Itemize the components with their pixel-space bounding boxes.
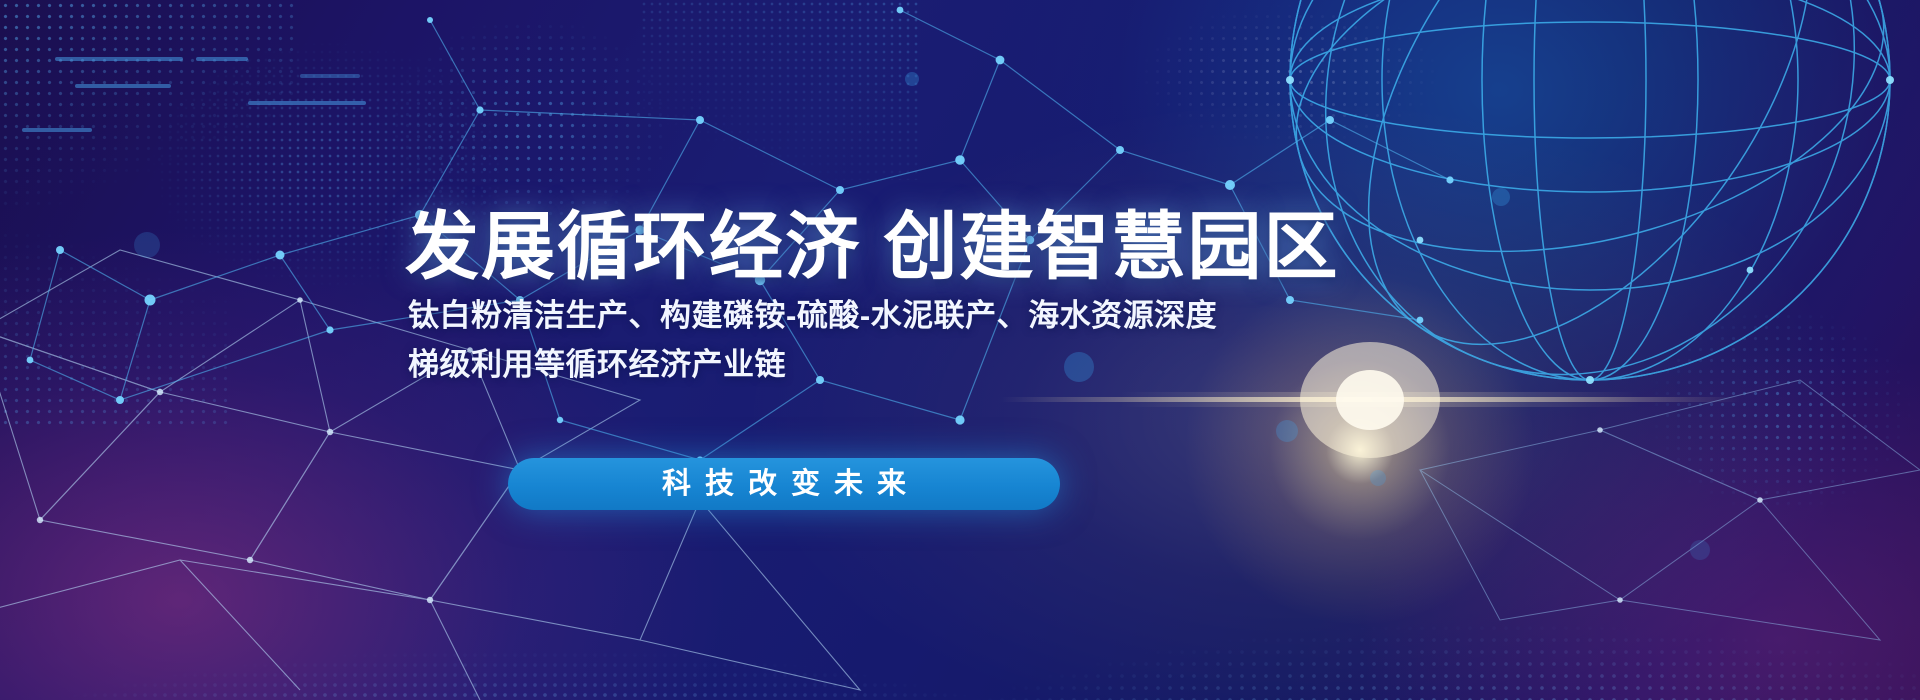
cta-button[interactable]: 科技改变未来 xyxy=(508,458,1060,510)
page-title: 发展循环经济 创建智慧园区 xyxy=(405,210,1505,284)
subtitle-line-1: 钛白粉清洁生产、构建磷铵-硫酸-水泥联产、海水资源深度 xyxy=(408,292,1228,341)
hero-banner: 发展循环经济 创建智慧园区 钛白粉清洁生产、构建磷铵-硫酸-水泥联产、海水资源深… xyxy=(0,0,1920,700)
subtitle-block: 钛白粉清洁生产、构建磷铵-硫酸-水泥联产、海水资源深度 梯级利用等循环经济产业链 xyxy=(408,292,1228,390)
banner-content: 发展循环经济 创建智慧园区 钛白粉清洁生产、构建磷铵-硫酸-水泥联产、海水资源深… xyxy=(0,0,1920,700)
subtitle-line-2: 梯级利用等循环经济产业链 xyxy=(408,341,1228,390)
